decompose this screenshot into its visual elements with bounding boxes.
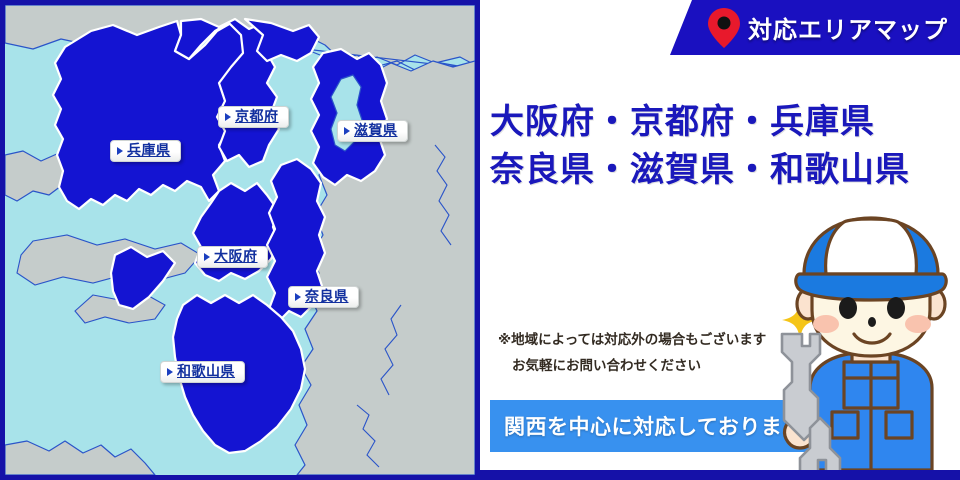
map-label-text: 大阪府 [214, 250, 258, 264]
heading-line-2: 奈良県・滋賀県・和歌山県 [490, 146, 960, 194]
triangle-bullet-icon [344, 127, 350, 135]
map-label-shiga[interactable]: 滋賀県 [337, 120, 408, 142]
triangle-bullet-icon [167, 368, 173, 376]
map-label-hyogo[interactable]: 兵庫県 [110, 140, 181, 162]
map-label-nara[interactable]: 奈良県 [288, 286, 359, 308]
map-label-text: 兵庫県 [127, 144, 171, 158]
map-label-text: 京都府 [235, 110, 279, 124]
worker-illustration [748, 212, 960, 472]
map-pin-icon [704, 6, 744, 50]
header-badge: 対応エリアマップ [670, 0, 960, 55]
kansai-map-graphic [5, 5, 475, 475]
heading-line-1: 大阪府・京都府・兵庫県 [490, 98, 960, 146]
bottom-accent-strip [480, 470, 960, 480]
area-map-banner: 京都府 滋賀県 兵庫県 大阪府 奈良県 和歌山県 [0, 0, 960, 480]
info-panel: 対応エリアマップ 大阪府・京都府・兵庫県 奈良県・滋賀県・和歌山県 ※地域によっ… [480, 0, 960, 480]
map-label-kyoto[interactable]: 京都府 [218, 106, 289, 128]
map-label-text: 和歌山県 [177, 365, 235, 379]
triangle-bullet-icon [225, 113, 231, 121]
kansai-map-panel: 京都府 滋賀県 兵庫県 大阪府 奈良県 和歌山県 [0, 0, 480, 480]
triangle-bullet-icon [204, 253, 210, 261]
map-label-text: 奈良県 [305, 290, 349, 304]
map-label-osaka[interactable]: 大阪府 [197, 246, 268, 268]
header-title: 対応エリアマップ [748, 0, 948, 55]
prefecture-hyogo [53, 21, 245, 209]
map-label-wakayama[interactable]: 和歌山県 [160, 361, 245, 383]
triangle-bullet-icon [117, 147, 123, 155]
area-heading: 大阪府・京都府・兵庫県 奈良県・滋賀県・和歌山県 [490, 98, 960, 195]
triangle-bullet-icon [295, 293, 301, 301]
map-label-text: 滋賀県 [354, 124, 398, 138]
